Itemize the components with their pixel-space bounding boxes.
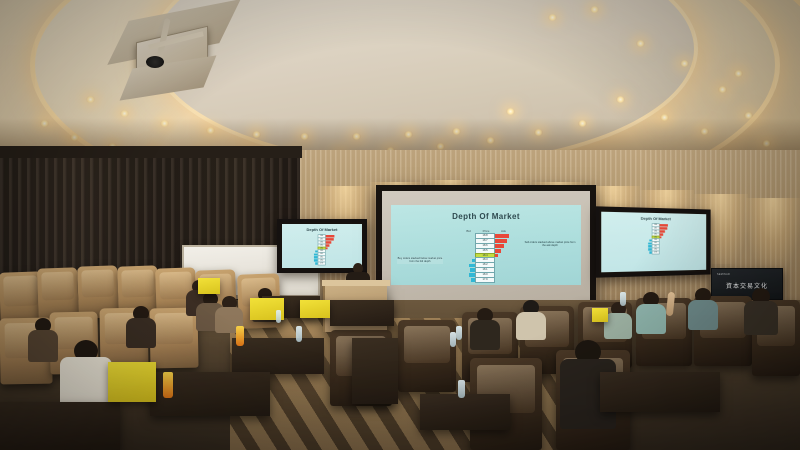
downlight-24 [636,40,645,47]
dom-price-cell: 17.9 [318,262,326,266]
dom-ask-cell [495,244,512,248]
downlight-32 [734,70,743,77]
dom-ask-cell [495,254,512,258]
dom-bid-cell [460,263,475,267]
dom-ask-cell [326,262,333,265]
person-body [126,318,156,348]
dom-bid-cell [460,239,475,243]
wall-washer-8 [746,198,800,268]
attendee-right-2 [516,300,546,344]
dom-ask-cell [495,239,512,243]
right-wall-monitor: Depth Of Market 18.818.718.618.518.418.3… [596,206,711,277]
dom-price-cell: 17.9 [652,251,660,255]
dom-ladder: Bid Price Ask 18.818.718.618.518.418.318… [460,229,512,283]
projection-surface: Depth Of Market Bid Price Ask 18.818.718… [382,191,590,301]
projector-icon [118,4,253,94]
downlight-23 [590,6,599,13]
dom-ask-bar [495,249,501,253]
pedestal-table [352,338,398,404]
seat-cushion [41,272,74,301]
dom-col-ask: Ask [496,229,511,233]
attendee-right-4 [636,292,666,338]
person-body [744,301,778,335]
curtain-rail [0,146,302,158]
yellow-bag-5 [592,308,608,322]
dom-bid-cell [460,234,475,238]
bottle-water-4 [456,326,462,340]
main-projection-screen: Depth Of Market Bid Price Ask 18.818.718… [376,185,596,307]
left-monitor-dom-ladder: 18.818.718.618.518.418.318.218.118.017.9 [311,235,332,265]
person-body [28,330,58,362]
downlight-22 [548,14,557,21]
slide-annotation-right: Sell orders stacked above market price f… [524,241,576,248]
dom-ask-cell [495,258,512,262]
banner-subtitle: SEMINAR [717,273,730,276]
slide-depth-of-market: Depth Of Market Bid Price Ask 18.818.718… [391,205,581,285]
downlight-33 [506,108,515,115]
dom-price-cell: 17.9 [475,277,494,283]
person-body [604,313,632,339]
left-monitor-screen: Depth Of Market 18.818.718.618.518.418.3… [282,224,362,268]
dom-ask-bar [495,254,498,258]
dom-bid-cell [460,268,475,272]
seat-cushion [404,326,450,363]
seat-cushion [81,270,114,298]
attendee-right-6 [744,288,778,340]
dom-row: 17.9 [311,262,332,265]
yellow-bag-3 [300,300,330,318]
dom-ask-cell [660,251,667,254]
side-table-left-1 [232,338,324,374]
side-table-right-2 [420,394,510,430]
dom-ask-cell [495,234,512,238]
dom-ask-cell [495,273,512,277]
dom-ask-bar [495,234,509,238]
person-body [470,320,500,350]
bottle-water-5 [458,380,465,398]
person-body [516,312,546,340]
bottle-water-2 [276,310,281,323]
dom-bid-cell [460,278,475,282]
downlight-0 [86,96,95,103]
downlight-26 [718,86,727,93]
dom-bid-bar [471,278,475,282]
side-table-right-1 [600,372,720,412]
attendee-right-7 [604,302,632,343]
slide-annotation-left: Buy orders stacked below market price fo… [397,257,443,264]
dom-bid-cell [460,273,475,277]
yellow-bag-4 [198,278,220,294]
left-monitor-title: Depth Of Market [282,227,362,232]
person-body [636,304,666,334]
dom-bid-cell [460,258,475,262]
bottle-water-6 [620,292,626,306]
seat-cushion [3,276,38,306]
dom-bid-cell [646,251,652,254]
dom-ask-cell [495,263,512,267]
dom-ask-cell [495,249,512,253]
downlight-1 [120,110,129,117]
slide-title: Depth Of Market [391,212,581,221]
dom-ask-cell [495,278,512,282]
attendee-left-3 [126,306,156,352]
bottle-water-1 [296,326,302,342]
attendee-right-1 [470,308,500,354]
downlight-29 [616,96,625,103]
dom-col-bid: Bid [461,229,476,233]
audience-seat-right-1 [398,320,456,392]
lectern-top [322,280,390,286]
dom-row-group: 18.818.718.618.518.418.318.218.118.017.9 [460,234,512,282]
dom-row: 17.9 [460,278,512,282]
attendee-left-6 [28,318,58,366]
dom-bid-cell [460,254,475,258]
attendee-right-5 [688,288,718,334]
dom-bid-bar [649,251,652,253]
yellow-bag-1 [108,362,156,402]
dom-bid-cell [311,262,317,265]
right-monitor-screen: Depth Of Market 18.818.718.618.518.418.3… [601,212,706,273]
right-monitor-dom-ladder: 18.818.718.618.518.418.318.218.118.017.9 [646,224,666,254]
dom-row: 17.9 [646,251,666,254]
person-body [688,300,718,330]
seminar-room-photo: Depth Of Market 18.818.718.618.518.418.3… [0,0,800,450]
downlight-25 [680,60,689,67]
dom-bid-bar [315,262,318,264]
bottle-orange-2 [236,326,244,346]
seat-cushion [121,270,154,298]
dom-ask-bar [495,239,508,243]
bottle-orange-1 [163,372,173,398]
foreground-table [0,402,120,450]
dom-ask-cell [495,268,512,272]
dom-bid-cell [460,249,475,253]
side-table-center [330,300,394,326]
dom-bid-cell [460,244,475,248]
dom-ask-bar [495,244,504,248]
right-monitor-title: Depth Of Market [601,215,706,222]
